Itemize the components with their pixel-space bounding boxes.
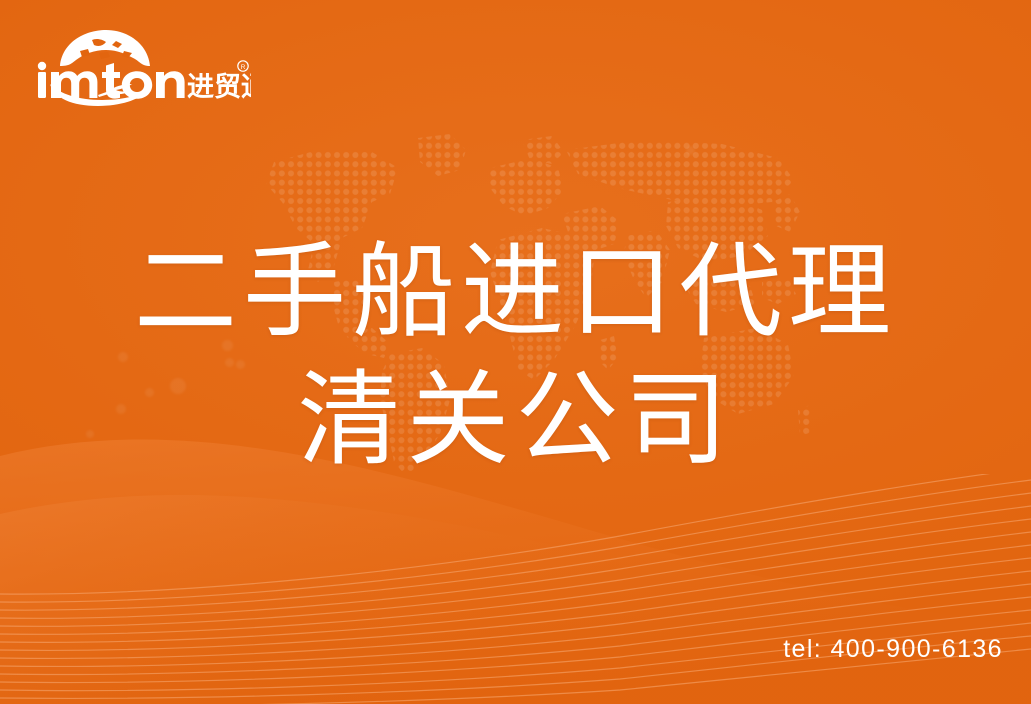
headline-line-1: 二手船进口代理: [0, 228, 1031, 356]
promo-banner: 进贸通 R 二手船进口代理 清关公司 tel: 400-900-6136: [0, 0, 1031, 704]
globe-arc-icon: [60, 30, 150, 66]
bottom-stripes-decor: [0, 474, 1031, 704]
contact-phone: tel: 400-900-6136: [783, 635, 1003, 664]
imton-logo[interactable]: 进贸通 R: [36, 26, 251, 106]
headline-line-2: 清关公司: [0, 356, 1031, 484]
svg-text:R: R: [241, 64, 246, 71]
trademark-icon: R: [238, 61, 248, 71]
headline: 二手船进口代理 清关公司: [0, 228, 1031, 484]
logo-chinese-name: 进贸通: [187, 72, 251, 103]
